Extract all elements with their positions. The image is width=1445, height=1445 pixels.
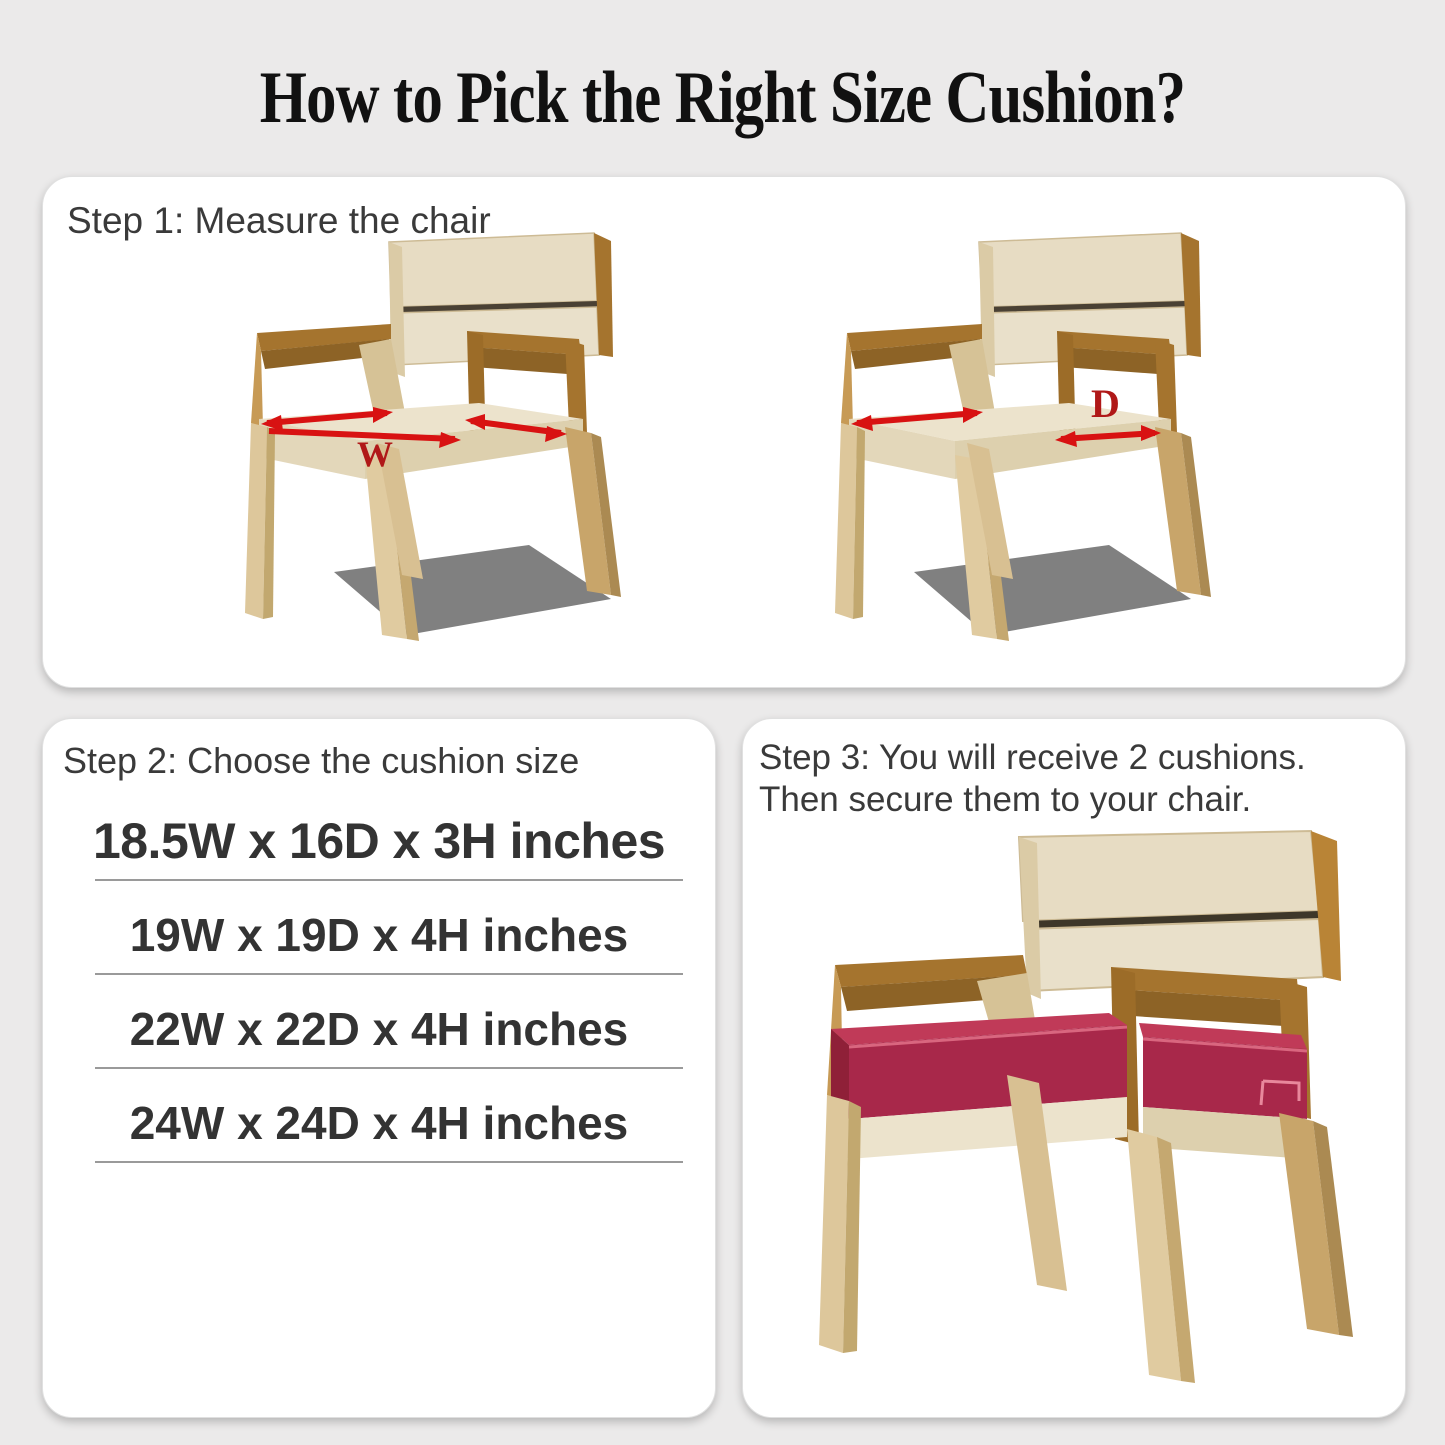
cushion-size-list: 18.5W x 16D x 3H inches 19W x 19D x 4H i… bbox=[43, 811, 715, 1187]
chair-back-upper bbox=[389, 233, 597, 307]
step1-card: Step 1: Measure the chair bbox=[42, 176, 1406, 688]
chair-illustration-width: W bbox=[239, 227, 669, 657]
size-divider bbox=[95, 1067, 683, 1069]
size-option-label: 19W x 19D x 4H inches bbox=[43, 905, 715, 965]
page-title: How to Pick the Right Size Cushion? bbox=[130, 56, 1315, 141]
size-option-row[interactable]: 19W x 19D x 4H inches bbox=[43, 905, 715, 999]
chair-illustration-depth: D bbox=[819, 227, 1249, 657]
step2-card: Step 2: Choose the cushion size 18.5W x … bbox=[42, 718, 716, 1418]
size-divider bbox=[95, 879, 683, 881]
chair-back-upper bbox=[979, 233, 1185, 307]
floor-shadow bbox=[914, 545, 1191, 635]
size-option-label: 22W x 22D x 4H inches bbox=[43, 999, 715, 1059]
depth-letter-D: D bbox=[1091, 381, 1120, 426]
width-letter-W: W bbox=[357, 434, 393, 474]
size-option-row[interactable]: 24W x 24D x 4H inches bbox=[43, 1093, 715, 1187]
size-divider bbox=[95, 973, 683, 975]
step2-label: Step 2: Choose the cushion size bbox=[63, 739, 579, 783]
chair-back-upper bbox=[1019, 831, 1319, 921]
size-option-label: 24W x 24D x 4H inches bbox=[43, 1093, 715, 1153]
size-option-row[interactable]: 22W x 22D x 4H inches bbox=[43, 999, 715, 1093]
size-option-row[interactable]: 18.5W x 16D x 3H inches bbox=[43, 811, 715, 905]
size-divider bbox=[95, 1161, 683, 1163]
size-option-label: 18.5W x 16D x 3H inches bbox=[43, 811, 715, 871]
chair-illustration-with-cushion bbox=[791, 829, 1391, 1399]
infographic-page: How to Pick the Right Size Cushion? Step… bbox=[0, 0, 1445, 1445]
step3-label: Step 3: You will receive 2 cushions. The… bbox=[759, 737, 1306, 821]
step3-card: Step 3: You will receive 2 cushions. The… bbox=[742, 718, 1406, 1418]
